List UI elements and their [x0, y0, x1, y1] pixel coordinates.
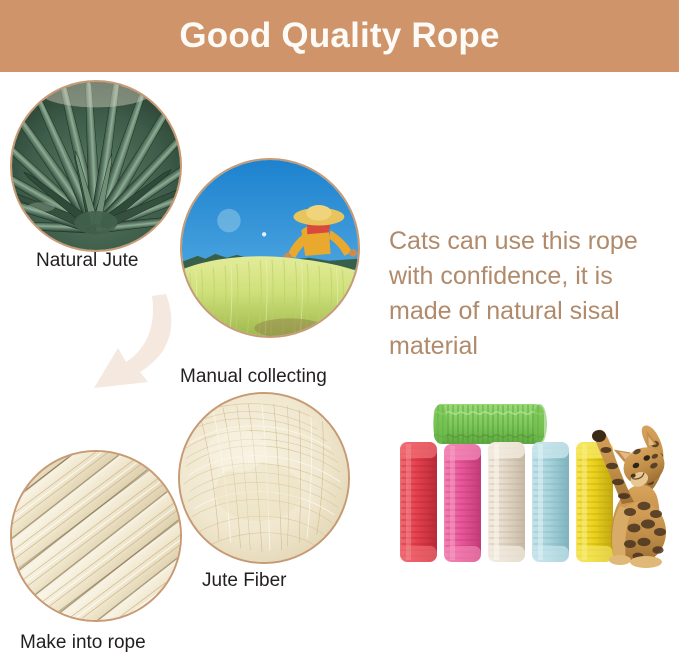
harvest-field-photo [180, 158, 360, 338]
caption-natural-jute: Natural Jute [36, 250, 138, 272]
caption-manual-collecting: Manual collecting [180, 366, 327, 388]
caption-jute-fiber: Jute Fiber [202, 570, 286, 592]
raw-fiber-photo [178, 392, 350, 564]
rope-bundle-pink [444, 444, 481, 562]
rope-bundle-cream [488, 442, 525, 562]
rope-bundle-red [400, 442, 437, 562]
page-title: Good Quality Rope [0, 0, 679, 72]
rope-bundle-green [433, 404, 547, 444]
sisal-plant-photo [10, 80, 182, 252]
twisted-rope-photo [10, 450, 182, 622]
curved-down-arrow-icon [74, 292, 186, 396]
caption-make-into-rope: Make into rope [20, 632, 146, 654]
rope-bundles-and-cat-photo [382, 392, 672, 574]
rope-bundle-lightblue [532, 442, 569, 562]
marketing-copy: Cats can use this rope with confidence, … [389, 224, 671, 364]
infographic-canvas: Good Quality Rope [0, 0, 679, 662]
